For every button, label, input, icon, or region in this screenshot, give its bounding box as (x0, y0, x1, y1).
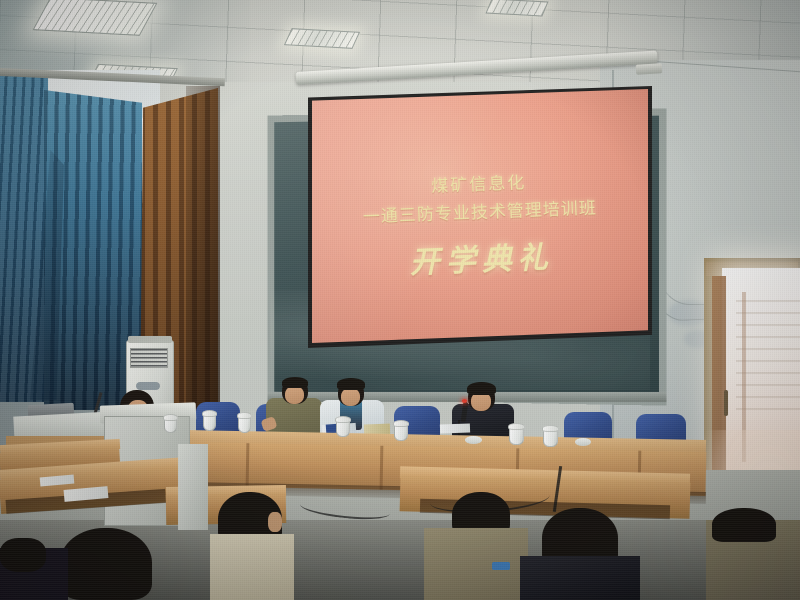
head-table-panel-divider (380, 446, 384, 490)
air-conditioner-top (128, 336, 172, 343)
audience-member-5-head (712, 508, 776, 542)
teacup-5-lid (508, 423, 525, 430)
projection-screen-endcap (636, 63, 663, 75)
saucer-1 (465, 436, 482, 444)
slide-text-block: 煤矿信息化 一通三防专业技术管理培训班 开学典礼 (308, 90, 653, 343)
air-conditioner-vent-icon (130, 348, 168, 368)
light-grille-icon (487, 0, 547, 15)
slide-title-line-3: 开学典礼 (409, 232, 555, 281)
speaker-black-jacket-hair (467, 382, 496, 395)
teacup-operator-lid (163, 414, 178, 421)
slide-title-line-1: 煤矿信息化 (431, 168, 527, 197)
ceiling-light-1 (33, 0, 158, 36)
air-conditioner-badge (136, 382, 160, 390)
door-handle[interactable] (724, 390, 728, 416)
audience-member-2-torso (210, 534, 294, 600)
microphone-indicator-led (462, 399, 467, 403)
slide-title-line-2: 一通三防专业技术管理培训班 (362, 194, 597, 228)
teacup-6-lid (542, 425, 559, 432)
teacup-2-lid (237, 412, 252, 419)
teacup-1-lid (202, 410, 217, 417)
audience-member-3-torso (424, 528, 528, 600)
speaker-papers (440, 423, 470, 433)
panelist-khaki-jacket-hair (282, 377, 308, 388)
audience-member-6-head (0, 538, 46, 572)
light-grille-icon (34, 0, 156, 35)
teacup-3-lid (335, 416, 351, 423)
lecture-hall-photo: 煤矿信息化 一通三防专业技术管理培训班 开学典礼 (0, 0, 800, 600)
desk-partition (178, 444, 208, 530)
light-grille-icon (285, 29, 358, 48)
blue-object-on-desk (492, 562, 510, 570)
panelist-white-coat-hair (337, 378, 365, 390)
brown-curtain-shadow (186, 86, 220, 416)
panelist-white-coat-face (341, 388, 360, 406)
panelist-khaki-jacket-face (285, 386, 304, 404)
saucer-2 (575, 438, 591, 446)
audience-member-2-ear (268, 512, 282, 532)
audience-member-4-torso (520, 556, 640, 600)
ceiling-light-3 (284, 28, 360, 49)
teacup-4-lid (393, 420, 409, 427)
audience-member-1-head (60, 528, 152, 600)
head-table-panel-divider (246, 443, 250, 487)
